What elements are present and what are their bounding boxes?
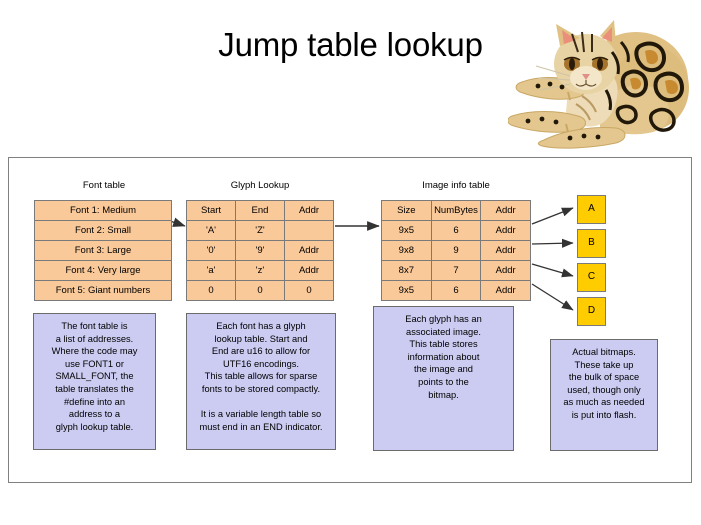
glyph-cell-start: 'A' — [187, 221, 236, 241]
table-row[interactable]: 9x8 9 Addr — [382, 241, 531, 261]
bitmap-box-a[interactable]: A — [577, 195, 606, 224]
glyph-cell-addr: Addr — [285, 261, 334, 281]
table-row[interactable]: 0 0 0 — [187, 281, 334, 301]
font-table-caption: Font table — [34, 180, 174, 191]
font-table-cell: Font 5: Giant numbers — [35, 281, 172, 301]
image-cell-numbytes: 9 — [431, 241, 481, 261]
glyph-cell-start: 0 — [187, 281, 236, 301]
glyph-cell-start: '0' — [187, 241, 236, 261]
glyph-cell-end: '9' — [236, 241, 285, 261]
image-info-caption: Image info table — [381, 180, 531, 191]
font-table-cell: Font 3: Large — [35, 241, 172, 261]
table-row[interactable]: 8x7 7 Addr — [382, 261, 531, 281]
font-table-note: The font table is a list of addresses. W… — [33, 313, 156, 450]
glyph-cell-start: 'a' — [187, 261, 236, 281]
glyph-lookup-table[interactable]: Start End Addr 'A' 'Z' '0' '9' Addr 'a' … — [186, 200, 334, 301]
glyph-header-start: Start — [187, 201, 236, 221]
table-row[interactable]: Font 5: Giant numbers — [35, 281, 172, 301]
glyph-cell-end: 'Z' — [236, 221, 285, 241]
glyph-cell-addr — [285, 221, 334, 241]
table-row[interactable]: Font 1: Medium — [35, 201, 172, 221]
table-row[interactable]: Font 4: Very large — [35, 261, 172, 281]
glyph-header-end: End — [236, 201, 285, 221]
table-row[interactable]: 9x5 6 Addr — [382, 281, 531, 301]
bitmap-box-b[interactable]: B — [577, 229, 606, 258]
image-header-size: Size — [382, 201, 432, 221]
font-table-cell: Font 4: Very large — [35, 261, 172, 281]
glyph-cell-addr: Addr — [285, 241, 334, 261]
image-header-addr: Addr — [481, 201, 531, 221]
glyph-cell-end: 'z' — [236, 261, 285, 281]
table-row[interactable]: 'a' 'z' Addr — [187, 261, 334, 281]
table-row[interactable]: 9x5 6 Addr — [382, 221, 531, 241]
image-cell-numbytes: 6 — [431, 281, 481, 301]
image-cell-size: 8x7 — [382, 261, 432, 281]
image-cell-size: 9x8 — [382, 241, 432, 261]
bitmap-box-d[interactable]: D — [577, 297, 606, 326]
image-info-table[interactable]: Size NumBytes Addr 9x5 6 Addr 9x8 9 Addr… — [381, 200, 531, 301]
image-cell-size: 9x5 — [382, 221, 432, 241]
image-cell-addr: Addr — [481, 281, 531, 301]
glyph-lookup-caption: Glyph Lookup — [186, 180, 334, 191]
table-row[interactable]: Font 3: Large — [35, 241, 172, 261]
glyph-cell-end: 0 — [236, 281, 285, 301]
table-row[interactable]: 'A' 'Z' — [187, 221, 334, 241]
spotted-cat-icon — [508, 18, 694, 152]
bitmap-box-c[interactable]: C — [577, 263, 606, 292]
image-cell-addr: Addr — [481, 241, 531, 261]
font-table-cell: Font 1: Medium — [35, 201, 172, 221]
image-header-numbytes: NumBytes — [431, 201, 481, 221]
image-info-note: Each glyph has an associated image. This… — [373, 306, 514, 451]
image-cell-addr: Addr — [481, 261, 531, 281]
image-cell-numbytes: 6 — [431, 221, 481, 241]
table-row[interactable]: '0' '9' Addr — [187, 241, 334, 261]
table-row[interactable]: Font 2: Small — [35, 221, 172, 241]
bitmap-note: Actual bitmaps. These take up the bulk o… — [550, 339, 658, 451]
glyph-header-addr: Addr — [285, 201, 334, 221]
table-header-row: Start End Addr — [187, 201, 334, 221]
image-cell-addr: Addr — [481, 221, 531, 241]
glyph-cell-addr: 0 — [285, 281, 334, 301]
glyph-lookup-note: Each font has a glyph lookup table. Star… — [186, 313, 336, 450]
image-cell-numbytes: 7 — [431, 261, 481, 281]
image-cell-size: 9x5 — [382, 281, 432, 301]
font-table-cell: Font 2: Small — [35, 221, 172, 241]
diagram-frame: Font table Font 1: Medium Font 2: Small … — [8, 157, 692, 483]
table-header-row: Size NumBytes Addr — [382, 201, 531, 221]
font-table[interactable]: Font 1: Medium Font 2: Small Font 3: Lar… — [34, 200, 172, 301]
